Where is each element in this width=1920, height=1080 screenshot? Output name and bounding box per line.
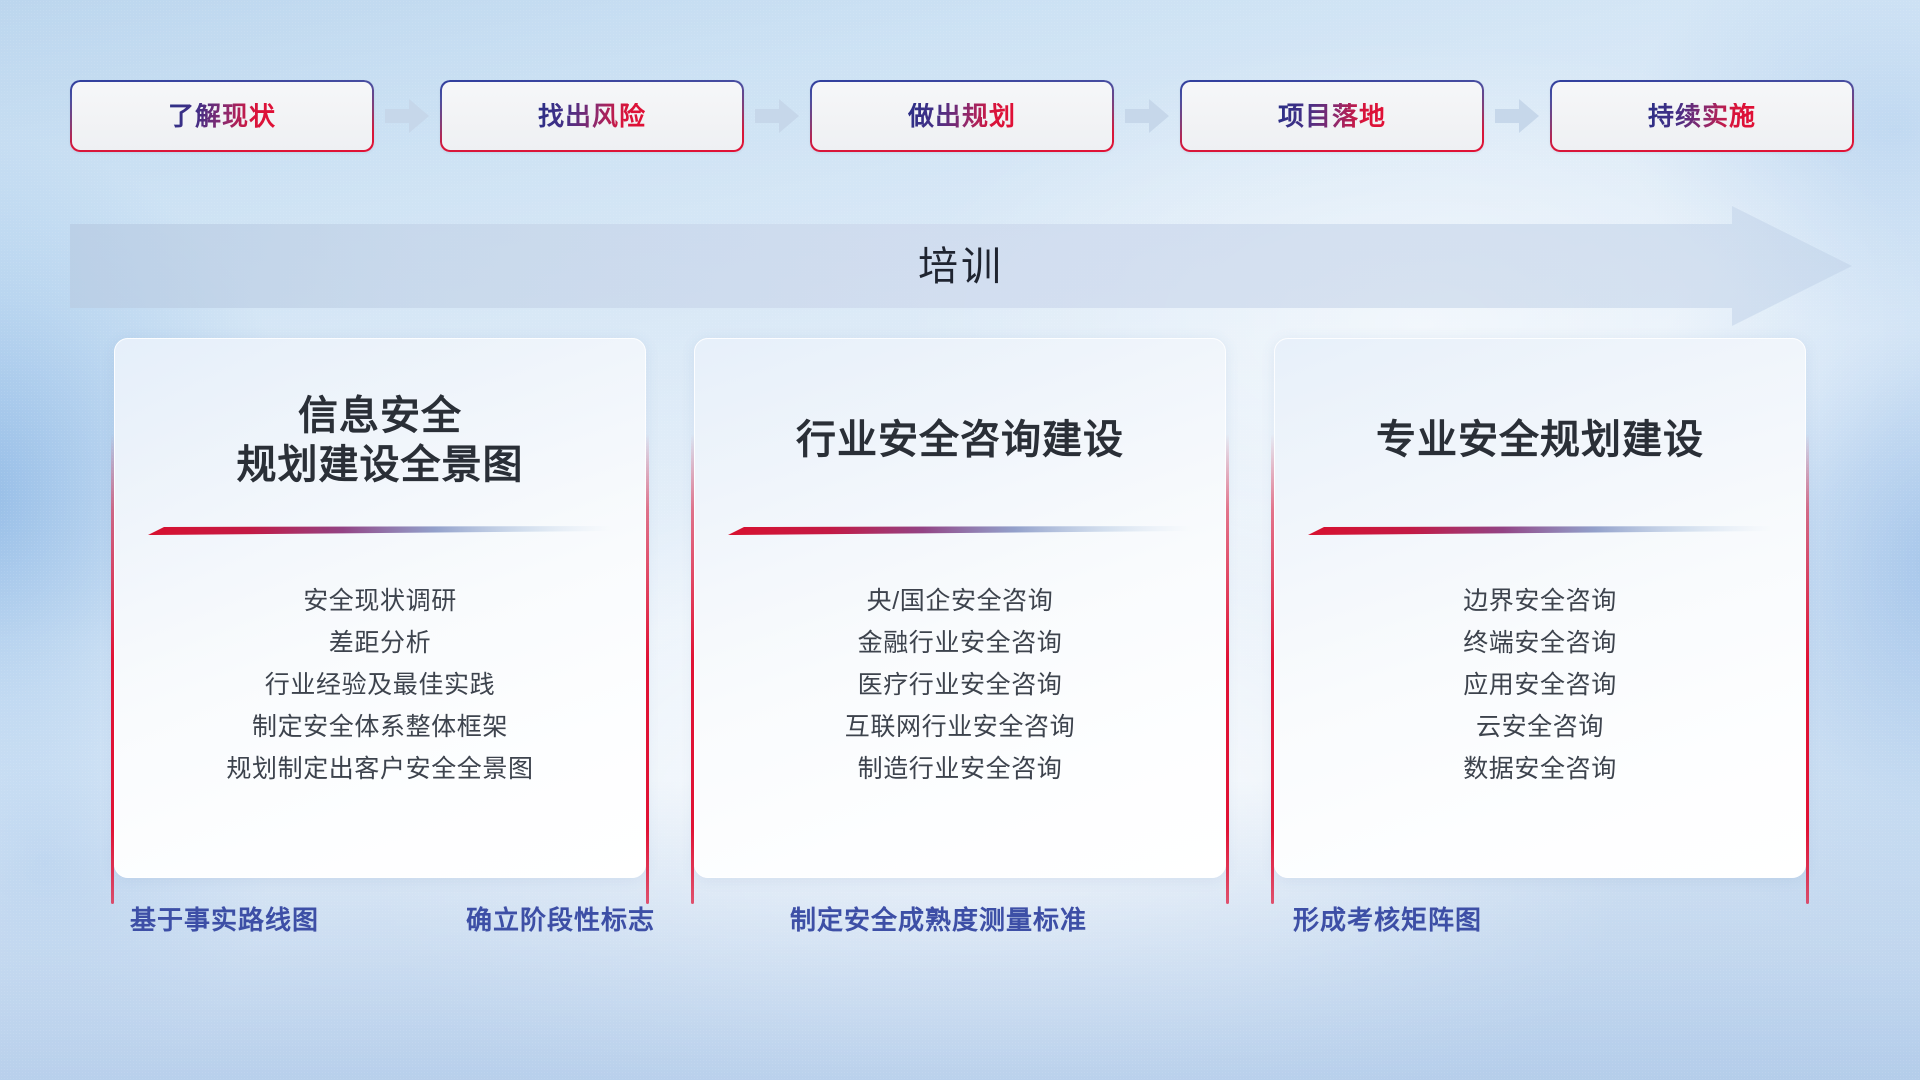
card-accent-bar-right [1226,434,1229,904]
card-list-item: 数据安全咨询 [1274,749,1806,791]
footnote-label: 确立阶段性标志 [466,900,655,937]
card-list-item: 医疗行业安全咨询 [694,665,1226,707]
card-divider [1308,526,1772,535]
right-arrow-icon [1484,80,1550,152]
card-list-item: 终端安全咨询 [1274,623,1806,665]
card-title-line: 行业安全咨询建设 [694,416,1226,465]
card-list-item: 规划制定出客户安全全景图 [114,749,646,791]
card-item-list: 央/国企安全咨询 金融行业安全咨询 医疗行业安全咨询 互联网行业安全咨询 制造行… [694,581,1226,791]
card-list-item: 互联网行业安全咨询 [694,707,1226,749]
card-accent-bar-right [646,434,649,904]
card-list-item: 边界安全咨询 [1274,581,1806,623]
process-flow: 了解现状 找出风险 做出规划 项目落地 持续实施 [70,76,1854,156]
card-list-item: 金融行业安全咨询 [694,623,1226,665]
process-step-label: 项目落地 [1278,103,1386,129]
card-title-line: 规划建设全景图 [114,441,646,490]
card-info-security-blueprint[interactable]: 信息安全 规划建设全景图 安全现状调研 [114,338,646,878]
right-arrow-icon [744,80,810,152]
card-title-line: 信息安全 [114,392,646,441]
card-list-item: 云安全咨询 [1274,707,1806,749]
card-title-line: 专业安全规划建设 [1274,416,1806,465]
process-step-4[interactable]: 项目落地 [1180,80,1484,152]
process-step-3[interactable]: 做出规划 [810,80,1114,152]
right-arrow-icon [374,80,440,152]
process-step-label: 找出风险 [538,103,646,129]
process-step-label: 了解现状 [168,103,276,129]
process-step-1[interactable]: 了解现状 [70,80,374,152]
process-step-2[interactable]: 找出风险 [440,80,744,152]
card-title: 信息安全 规划建设全景图 [114,392,646,490]
card-list-item: 央/国企安全咨询 [694,581,1226,623]
card-list-item: 制造行业安全咨询 [694,749,1226,791]
process-step-label: 做出规划 [908,103,1016,129]
card-list-item: 行业经验及最佳实践 [114,665,646,707]
card-list-item: 制定安全体系整体框架 [114,707,646,749]
card-industry-security-consulting[interactable]: 行业安全咨询建设 央/国企安全咨询 金融行业安全咨 [694,338,1226,878]
card-list-item: 应用安全咨询 [1274,665,1806,707]
card-group: 信息安全 规划建设全景图 安全现状调研 [0,338,1920,878]
footnote-row: 基于事实路线图 确立阶段性标志 制定安全成熟度测量标准 形成考核矩阵图 [0,900,1920,950]
footnote-label: 形成考核矩阵图 [1293,900,1482,937]
card-professional-security-planning[interactable]: 专业安全规划建设 边界安全咨询 终端安全咨询 [1274,338,1806,878]
card-divider [728,526,1192,535]
footnote-label: 制定安全成熟度测量标准 [790,900,1087,937]
training-banner-label: 培训 [70,234,1852,292]
process-step-label: 持续实施 [1648,103,1756,129]
right-arrow-icon [1114,80,1180,152]
training-banner: 培训 [70,206,1852,326]
card-title: 专业安全规划建设 [1274,416,1806,465]
footnote-label: 基于事实路线图 [130,900,319,937]
card-item-list: 安全现状调研 差距分析 行业经验及最佳实践 制定安全体系整体框架 规划制定出客户… [114,581,646,791]
card-list-item: 差距分析 [114,623,646,665]
card-accent-bar-right [1806,434,1809,904]
card-list-item: 安全现状调研 [114,581,646,623]
card-item-list: 边界安全咨询 终端安全咨询 应用安全咨询 云安全咨询 数据安全咨询 [1274,581,1806,791]
process-step-5[interactable]: 持续实施 [1550,80,1854,152]
card-title: 行业安全咨询建设 [694,416,1226,465]
card-divider [148,526,612,535]
